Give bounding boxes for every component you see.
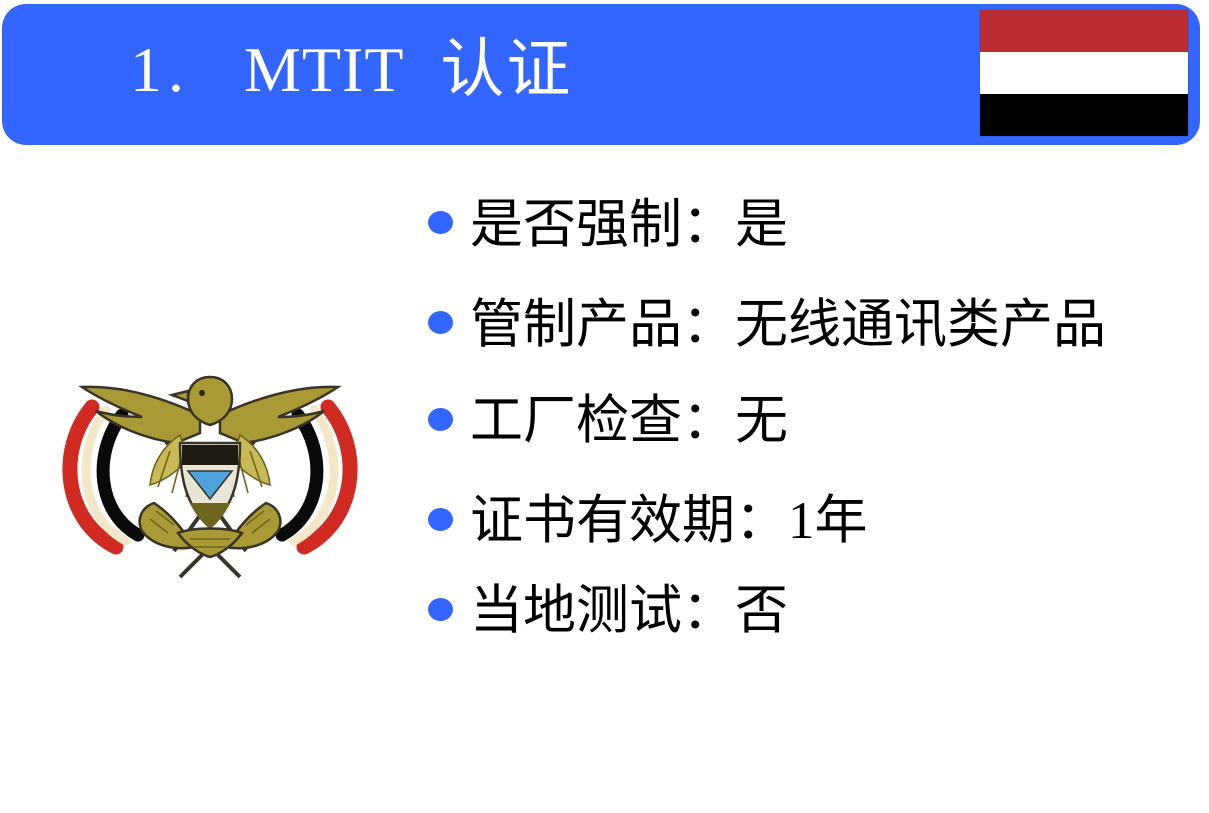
flag-band-red (980, 10, 1188, 52)
list-item-label: 证书有效期：1年 (470, 484, 1190, 558)
list-item-label: 工厂检查：无 (470, 384, 1190, 458)
list-item: 当地测试：否 (420, 574, 1190, 648)
bullet-dot-icon (428, 508, 453, 531)
flag-band-black (980, 94, 1188, 136)
bullet-dot-icon (428, 408, 453, 431)
bullet-list: 是否强制：是 管制产品：无线通讯类产品 工厂检查：无 证书有效期：1年 当地测试… (420, 188, 1190, 648)
title-latin: MTIT (244, 34, 404, 105)
bullet-dot-icon (428, 311, 453, 334)
list-item: 管制产品：无线通讯类产品 (420, 288, 1190, 362)
bullet-dot-icon (428, 211, 453, 234)
list-item: 证书有效期：1年 (420, 484, 1190, 558)
list-item-label: 当地测试：否 (470, 574, 1190, 648)
list-item-label: 是否强制：是 (470, 188, 1190, 262)
list-item: 是否强制：是 (420, 188, 1190, 262)
list-item-label: 管制产品：无线通讯类产品 (470, 288, 1190, 362)
list-item: 工厂检查：无 (420, 384, 1190, 458)
title-chinese: 认证 (440, 34, 572, 105)
title-number: 1. (130, 34, 190, 105)
page-title: 1. MTIT 认证 (130, 30, 572, 110)
flag-band-white (980, 52, 1188, 94)
yemen-flag-icon (980, 10, 1188, 136)
yemen-coat-of-arms-icon (30, 355, 390, 585)
bullet-dot-icon (428, 598, 453, 621)
